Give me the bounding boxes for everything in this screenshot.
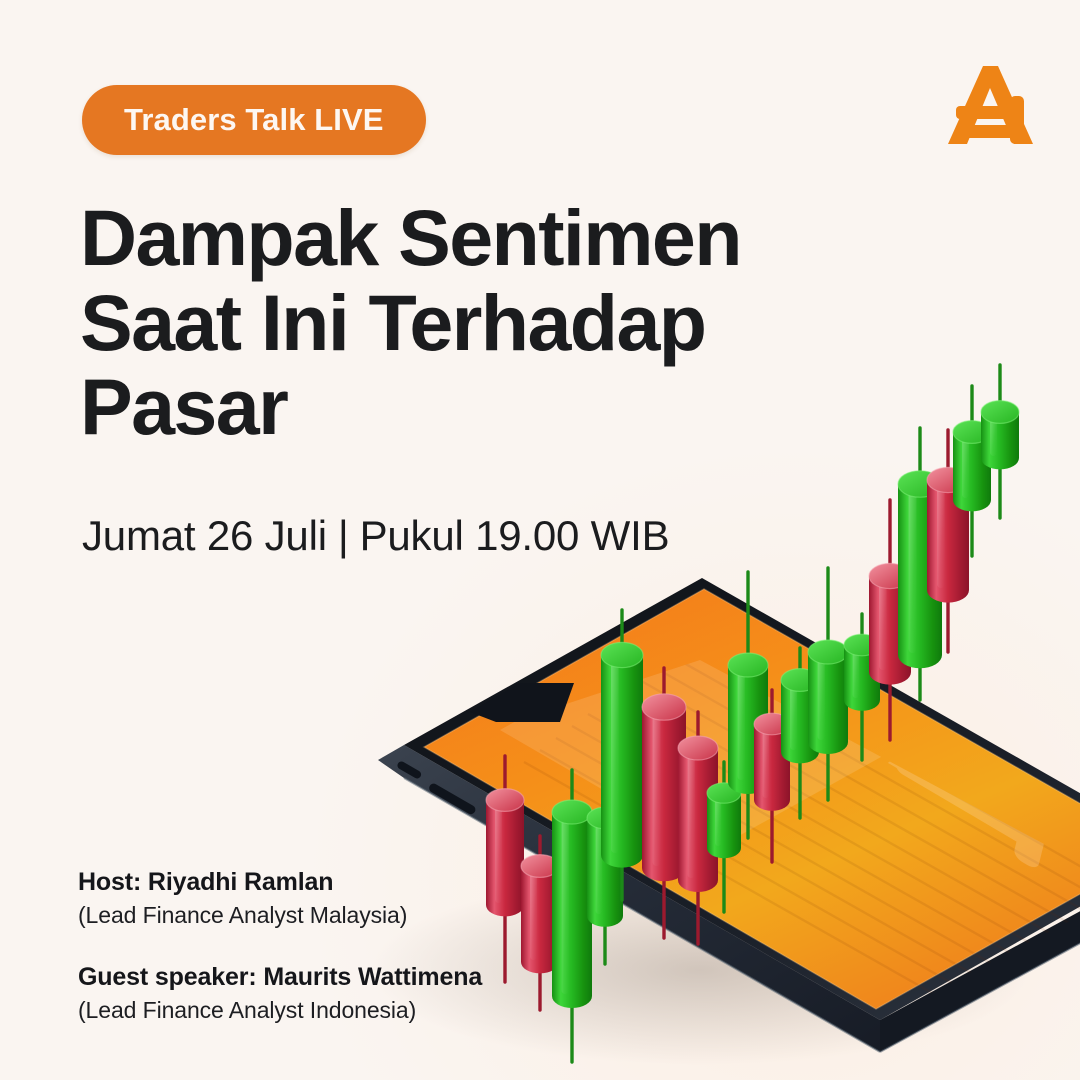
speaker-guest: Guest speaker: Maurits Wattimena (Lead F… — [78, 961, 598, 1026]
candlestick-5 — [601, 610, 643, 900]
guest-name: Guest speaker: Maurits Wattimena — [78, 961, 598, 993]
axi-a-logo-icon — [936, 52, 1044, 160]
live-badge[interactable]: Traders Talk LIVE — [82, 85, 426, 155]
speaker-list: Host: Riyadhi Ramlan (Lead Finance Analy… — [78, 866, 598, 1026]
candlestick-16 — [927, 430, 969, 652]
candlestick-8 — [707, 762, 741, 912]
headline-line-3: Pasar — [80, 365, 840, 450]
host-role: (Lead Finance Analyst Malaysia) — [78, 901, 598, 931]
candlestick-10 — [754, 690, 790, 862]
event-date: Jumat 26 Juli — [82, 512, 327, 559]
candlestick-7 — [678, 712, 718, 944]
candlestick-14 — [869, 500, 911, 740]
headline-line-2: Saat Ini Terhadap — [80, 281, 840, 366]
event-time: Pukul 19.00 WIB — [360, 512, 670, 559]
candlestick-13 — [844, 614, 880, 760]
page-title: Dampak Sentimen Saat Ini Terhadap Pasar — [80, 196, 840, 450]
candlestick-12 — [808, 568, 848, 800]
candlestick-17 — [953, 386, 991, 556]
host-name: Host: Riyadhi Ramlan — [78, 866, 598, 898]
candlestick-15 — [898, 428, 942, 700]
guest-role: (Lead Finance Analyst Indonesia) — [78, 996, 598, 1026]
speaker-host: Host: Riyadhi Ramlan (Lead Finance Analy… — [78, 866, 598, 931]
candlestick-18 — [981, 365, 1019, 518]
headline-line-1: Dampak Sentimen — [80, 196, 840, 281]
poster-canvas: Traders Talk LIVE Dampak Sentimen Saat I… — [0, 0, 1080, 1080]
schedule-separator: | — [327, 512, 360, 560]
live-badge-label: Traders Talk LIVE — [124, 102, 384, 138]
candlestick-11 — [781, 648, 819, 818]
candlestick-9 — [728, 572, 768, 838]
candlestick-6 — [642, 668, 686, 938]
event-schedule: Jumat 26 Juli|Pukul 19.00 WIB — [82, 512, 669, 560]
